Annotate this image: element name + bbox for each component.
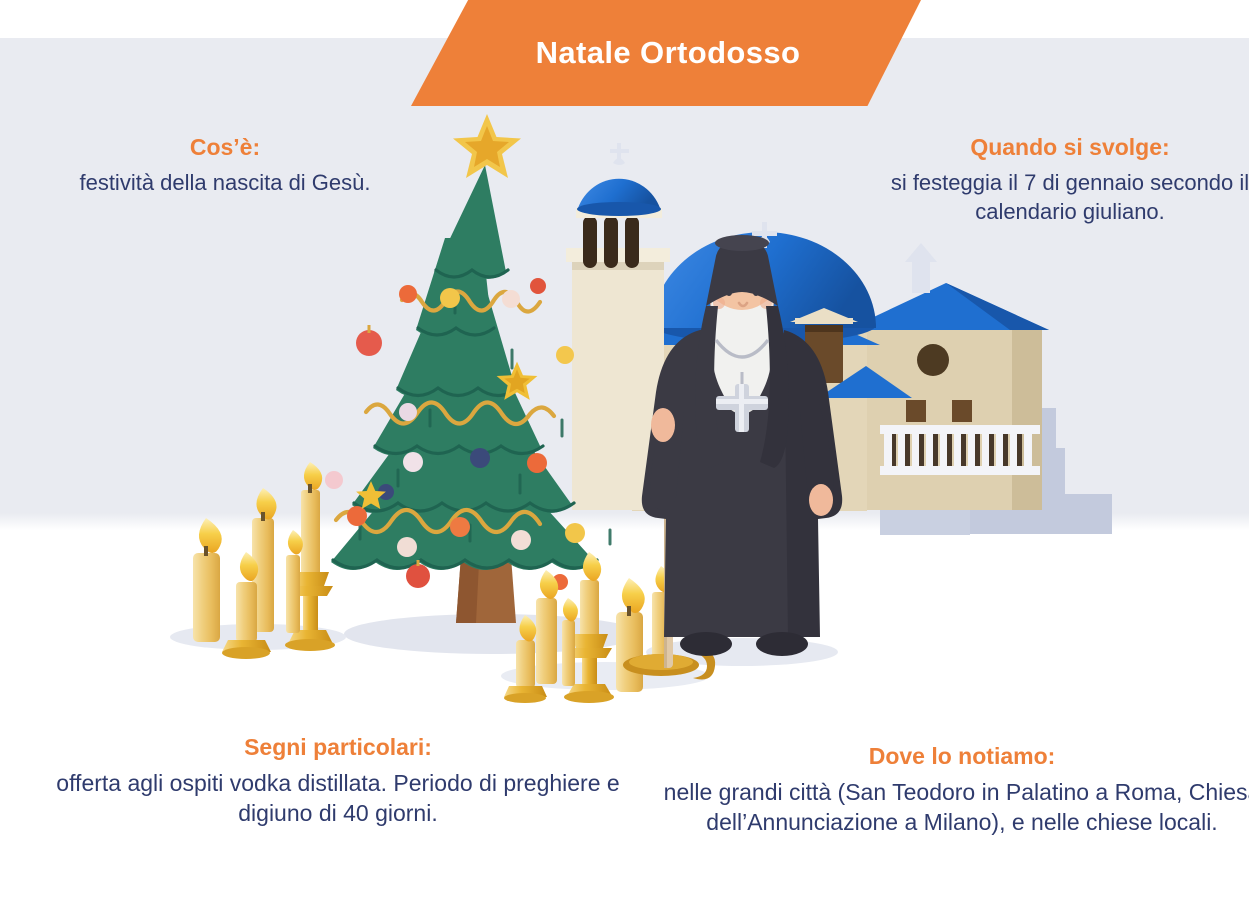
candle-left-slim: [286, 530, 303, 633]
section-cose-heading: Cos’è:: [25, 133, 425, 162]
candles-right-group: [504, 552, 715, 703]
section-segni-body: offerta agli ospiti vodka distillata. Pe…: [28, 768, 648, 829]
section-cose-body: festività della nascita di Gesù.: [25, 168, 425, 197]
background-band-fade: [0, 470, 1249, 530]
section-segni: Segni particolari: offerta agli ospiti v…: [28, 733, 648, 828]
candle-left-front: [222, 552, 271, 659]
candle-left-outer: [193, 518, 222, 642]
ground-shadows: [170, 614, 838, 690]
candlestick-tall-right: [564, 552, 614, 703]
infographic-canvas: Natale Ortodosso Cos’è: festività della …: [0, 0, 1249, 907]
page-title: Natale Ortodosso: [536, 35, 801, 71]
candle-right-front: [504, 615, 547, 703]
section-dove-heading: Dove lo notiamo:: [662, 742, 1249, 771]
section-quando-heading: Quando si svolge:: [855, 133, 1249, 162]
background-band: [0, 38, 1249, 528]
title-banner: Natale Ortodosso: [411, 0, 921, 106]
candle-right-slim: [562, 598, 578, 686]
section-segni-heading: Segni particolari:: [28, 733, 648, 762]
section-dove-body: nelle grandi città (San Teodoro in Palat…: [662, 777, 1249, 838]
candle-right-fat: [616, 578, 645, 692]
section-quando-body: si festeggia il 7 di gennaio secondo il …: [855, 168, 1249, 226]
section-quando: Quando si svolge: si festeggia il 7 di g…: [855, 133, 1249, 226]
chamberstick-candle-holder: [623, 566, 715, 680]
section-cose: Cos’è: festività della nascita di Gesù.: [25, 133, 425, 197]
candle-right-mid: [536, 570, 558, 684]
section-dove: Dove lo notiamo: nelle grandi città (San…: [662, 742, 1249, 837]
